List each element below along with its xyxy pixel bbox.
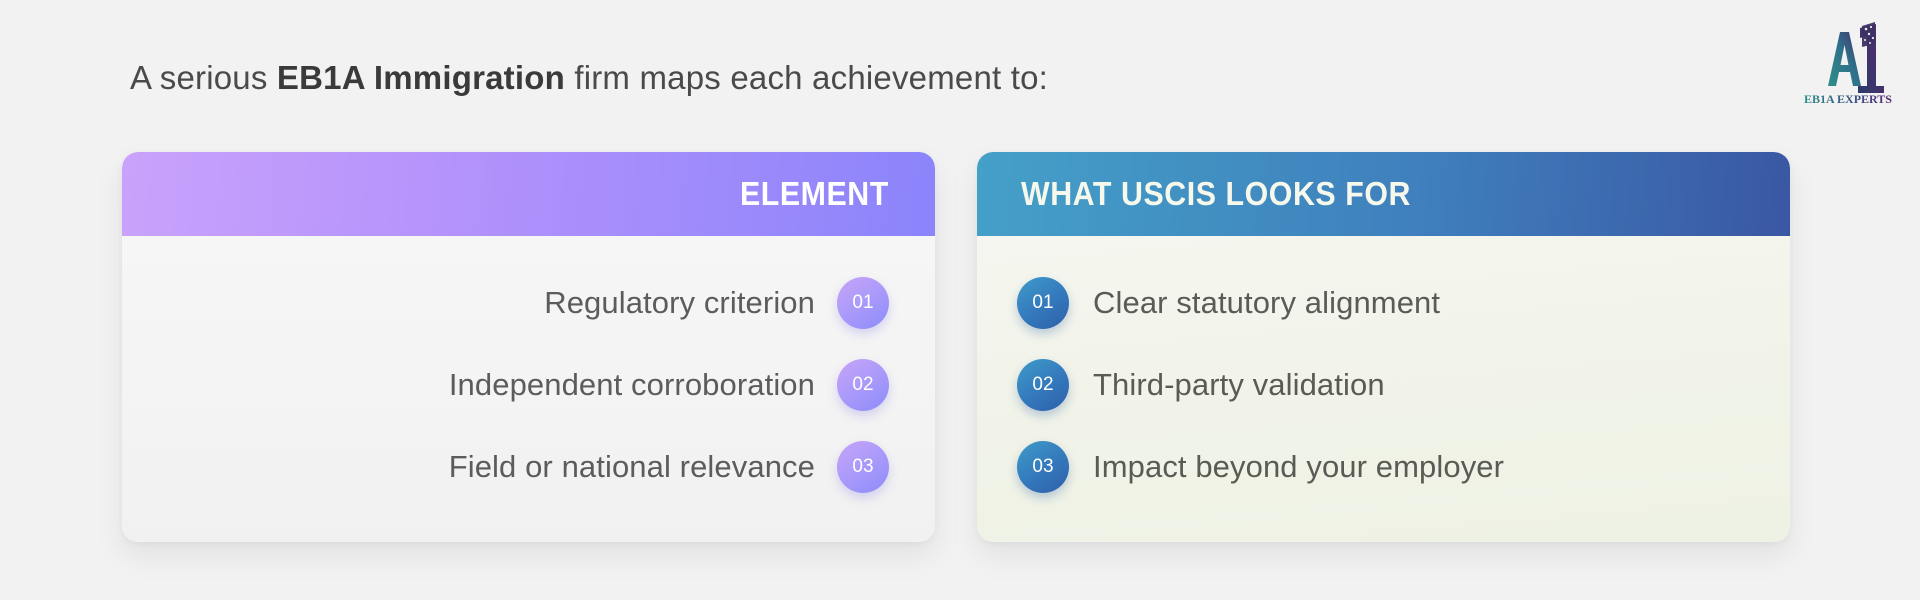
headline-text-after: firm maps each achievement to: — [565, 59, 1048, 96]
row-number-badge: 02 — [837, 359, 889, 411]
card-element-header: ELEMENT — [122, 152, 935, 236]
row-label: Third-party validation — [1093, 367, 1385, 403]
row-number-badge: 03 — [1017, 441, 1069, 493]
headline-text-bold: EB1A Immigration — [277, 59, 565, 96]
brand-logo: EB1A EXPERTS — [1800, 14, 1896, 106]
table-row[interactable]: 02 Third-party validation — [977, 344, 1790, 426]
table-row[interactable]: 03 Impact beyond your employer — [977, 426, 1790, 508]
row-number-badge: 01 — [837, 277, 889, 329]
row-label: Independent corroboration — [449, 367, 815, 403]
headline-text-before: A serious — [130, 59, 277, 96]
row-label: Clear statutory alignment — [1093, 285, 1440, 321]
card-element: ELEMENT Regulatory criterion 01 Independ… — [122, 152, 935, 542]
card-element-title: ELEMENT — [740, 175, 889, 213]
card-element-body: Regulatory criterion 01 Independent corr… — [122, 236, 935, 508]
page-headline: A serious EB1A Immigration firm maps eac… — [130, 58, 1048, 98]
row-number-badge: 03 — [837, 441, 889, 493]
table-row[interactable]: Regulatory criterion 01 — [122, 262, 935, 344]
logo-artwork: EB1A EXPERTS — [1800, 14, 1896, 106]
table-row[interactable]: Field or national relevance 03 — [122, 426, 935, 508]
logo-tagline: EB1A EXPERTS — [1804, 92, 1892, 106]
card-uscis-title: WHAT USCIS LOOKS FOR — [1021, 175, 1411, 213]
card-what-uscis-looks-for: WHAT USCIS LOOKS FOR 01 Clear statutory … — [977, 152, 1790, 542]
logo-letter-a — [1828, 32, 1861, 86]
table-row[interactable]: Independent corroboration 02 — [122, 344, 935, 426]
row-label: Regulatory criterion — [544, 285, 815, 321]
card-uscis-body: 01 Clear statutory alignment 02 Third-pa… — [977, 236, 1790, 508]
row-number-badge: 02 — [1017, 359, 1069, 411]
comparison-cards: ELEMENT Regulatory criterion 01 Independ… — [122, 152, 1790, 542]
row-number-badge: 01 — [1017, 277, 1069, 329]
row-label: Field or national relevance — [449, 449, 815, 485]
card-uscis-header: WHAT USCIS LOOKS FOR — [977, 152, 1790, 236]
table-row[interactable]: 01 Clear statutory alignment — [977, 262, 1790, 344]
row-label: Impact beyond your employer — [1093, 449, 1504, 485]
